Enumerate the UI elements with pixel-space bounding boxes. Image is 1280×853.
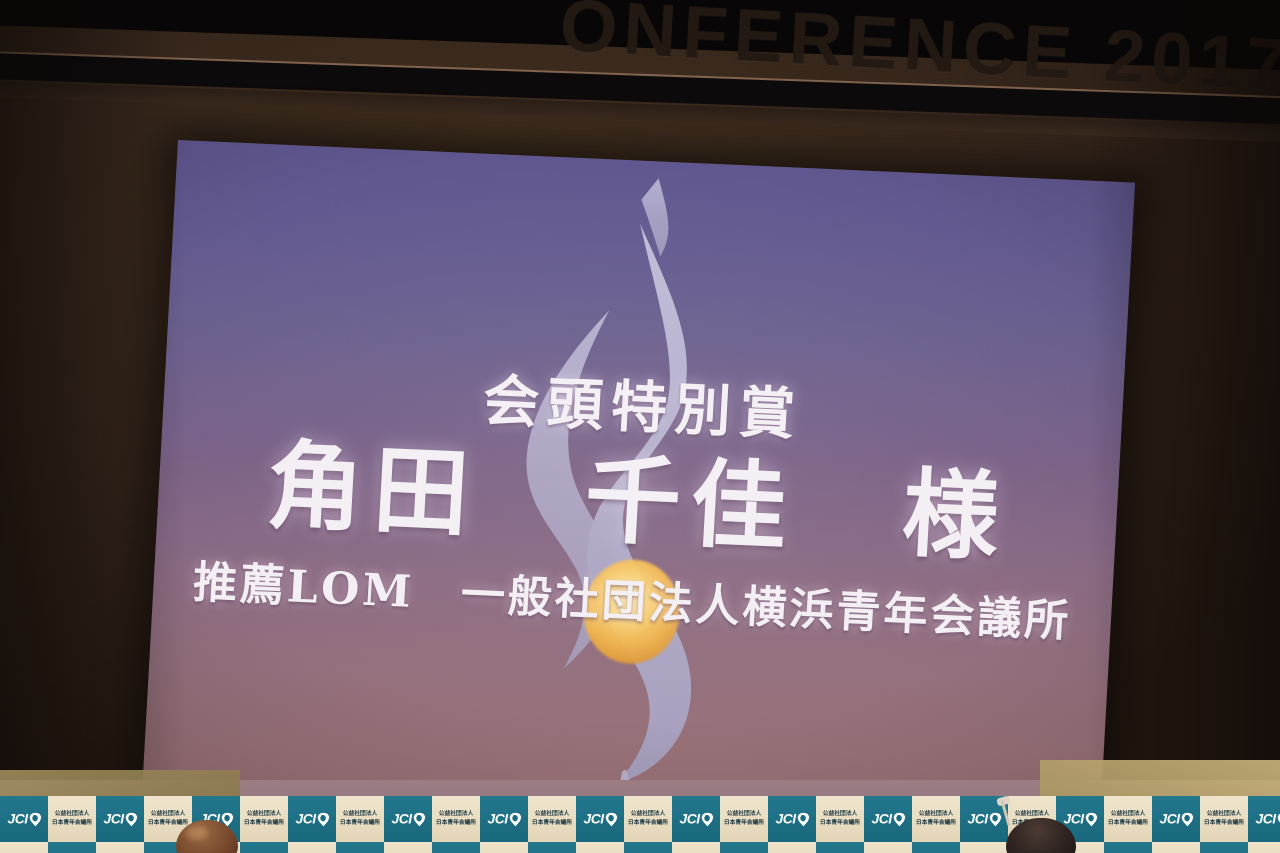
jci-org-tile: 公益社団法人日本青年会議所 (1200, 796, 1248, 842)
jci-pin-icon (701, 812, 713, 826)
jci-org-line-2: 日本青年会議所 (1108, 819, 1148, 827)
jci-pin-icon (1085, 812, 1097, 826)
jci-banner-tile (240, 842, 288, 853)
jci-pin-icon (989, 812, 1001, 826)
jci-logo: JCI (1159, 812, 1193, 826)
jci-org-tile: 公益社団法人日本青年会議所 (240, 796, 288, 842)
jci-logo-tile: JCI (576, 796, 624, 842)
jci-logo: JCI (1063, 812, 1097, 826)
jci-wordmark: JCI (391, 812, 411, 826)
jci-banner-tile (480, 842, 528, 853)
jci-org-name: 公益社団法人日本青年会議所 (628, 811, 668, 828)
jci-logo: JCI (679, 812, 713, 826)
jci-pin-icon (125, 812, 137, 826)
jci-pin-icon (509, 812, 521, 826)
jci-logo: JCI (391, 812, 425, 826)
jci-org-name: 公益社団法人日本青年会議所 (244, 811, 284, 828)
jci-wordmark: JCI (7, 812, 27, 826)
jci-org-tile: 公益社団法人日本青年会議所 (816, 796, 864, 842)
jci-org-line-1: 公益社団法人 (244, 811, 284, 819)
jci-banner-tile (384, 842, 432, 853)
award-title: 会頭特別賞 (481, 372, 804, 445)
jci-org-line-1: 公益社団法人 (820, 811, 860, 819)
jci-org-tile: 公益社団法人日本青年会議所 (1104, 796, 1152, 842)
jci-org-line-2: 日本青年会議所 (436, 819, 476, 827)
jci-logo-tile: JCI (96, 796, 144, 842)
jci-org-name: 公益社団法人日本青年会議所 (1204, 811, 1244, 828)
jci-wordmark: JCI (583, 812, 603, 826)
photo-scene: ONFERENCE 2017 (0, 0, 1280, 853)
jci-wordmark: JCI (775, 812, 795, 826)
jci-org-line-2: 日本青年会議所 (148, 819, 188, 827)
jci-wordmark: JCI (1063, 812, 1083, 826)
jci-org-line-1: 公益社団法人 (916, 811, 956, 819)
jci-pin-icon (317, 812, 329, 826)
jci-org-tile: 公益社団法人日本青年会議所 (432, 796, 480, 842)
jci-banner-tile (96, 842, 144, 853)
jci-org-line-1: 公益社団法人 (436, 811, 476, 819)
person-hair-highlight (186, 826, 208, 840)
jci-org-tile: 公益社団法人日本青年会議所 (912, 796, 960, 842)
jci-org-line-1: 公益社団法人 (532, 811, 572, 819)
jci-banner-tile (1104, 842, 1152, 853)
jci-banner-tile (1248, 842, 1280, 853)
jci-banner-tile (336, 842, 384, 853)
jci-banner-tile (864, 842, 912, 853)
recipient-name: 角田 千佳 様 (264, 435, 1011, 569)
jci-banner-tile (1200, 842, 1248, 853)
jci-org-line-2: 日本青年会議所 (916, 819, 956, 827)
jci-banner-tile (288, 842, 336, 853)
jci-logo-tile: JCI (672, 796, 720, 842)
jci-wordmark: JCI (1255, 812, 1275, 826)
jci-org-line-1: 公益社団法人 (1108, 811, 1148, 819)
jci-org-line-2: 日本青年会議所 (52, 819, 92, 827)
jci-org-tile: 公益社団法人日本青年会議所 (624, 796, 672, 842)
jci-wordmark: JCI (967, 812, 987, 826)
jci-banner-tile (1152, 842, 1200, 853)
jci-banner-tile (432, 842, 480, 853)
jci-logo-tile: JCI (0, 796, 48, 842)
jci-banner-tile (720, 842, 768, 853)
jci-org-tile: 公益社団法人日本青年会議所 (720, 796, 768, 842)
jci-logo-tile: JCI (1152, 796, 1200, 842)
jci-wordmark: JCI (103, 812, 123, 826)
jci-wordmark: JCI (871, 812, 891, 826)
jci-pin-icon (797, 812, 809, 826)
jci-org-name: 公益社団法人日本青年会議所 (532, 811, 572, 828)
jci-wordmark: JCI (679, 812, 699, 826)
jci-banner-tile (576, 842, 624, 853)
jci-logo-tile: JCI (1248, 796, 1280, 842)
jci-banner-tile (528, 842, 576, 853)
jci-banner-tile (768, 842, 816, 853)
jci-logo: JCI (967, 812, 1001, 826)
jci-logo: JCI (487, 812, 521, 826)
jci-logo-tile: JCI (768, 796, 816, 842)
jci-pin-icon (29, 812, 41, 826)
jci-pin-icon (1181, 812, 1193, 826)
jci-logo-tile: JCI (480, 796, 528, 842)
jci-org-name: 公益社団法人日本青年会議所 (1108, 811, 1148, 828)
jci-org-line-2: 日本青年会議所 (532, 819, 572, 827)
jci-banner-tile (672, 842, 720, 853)
jci-banner-tile (960, 842, 1008, 853)
jci-org-name: 公益社団法人日本青年会議所 (724, 811, 764, 828)
jci-logo: JCI (1255, 812, 1280, 826)
jci-org-name: 公益社団法人日本青年会議所 (820, 811, 860, 828)
jci-logo-tile: JCI (288, 796, 336, 842)
jci-logo-tile: JCI (384, 796, 432, 842)
jci-org-tile: 公益社団法人日本青年会議所 (48, 796, 96, 842)
jci-banner-tile (624, 842, 672, 853)
jci-org-line-1: 公益社団法人 (724, 811, 764, 819)
jci-org-line-2: 日本青年会議所 (340, 819, 380, 827)
jci-logo: JCI (103, 812, 137, 826)
jci-banner-tile (48, 842, 96, 853)
jci-banner-tile (912, 842, 960, 853)
jci-pin-icon (893, 812, 905, 826)
jci-banner-tile (816, 842, 864, 853)
jci-banner-tile (0, 842, 48, 853)
jci-org-line-2: 日本青年会議所 (724, 819, 764, 827)
jci-pin-icon (605, 812, 617, 826)
jci-org-tile: 公益社団法人日本青年会議所 (336, 796, 384, 842)
jci-org-name: 公益社団法人日本青年会議所 (436, 811, 476, 828)
projection-screen: 会頭特別賞 角田 千佳 様 推薦LOM 一般社団法人横浜青年会議所 (142, 140, 1135, 840)
jci-org-line-1: 公益社団法人 (340, 811, 380, 819)
jci-org-name: 公益社団法人日本青年会議所 (340, 811, 380, 828)
jci-org-name: 公益社団法人日本青年会議所 (148, 811, 188, 828)
jci-wordmark: JCI (295, 812, 315, 826)
jci-pin-icon (413, 812, 425, 826)
jci-org-line-2: 日本青年会議所 (244, 819, 284, 827)
jci-logo: JCI (775, 812, 809, 826)
recommending-lom-line: 推薦LOM 一般社団法人横浜青年会議所 (192, 559, 1073, 646)
jci-org-line-1: 公益社団法人 (628, 811, 668, 819)
jci-logo: JCI (871, 812, 905, 826)
jci-wordmark: JCI (487, 812, 507, 826)
jci-org-tile: 公益社団法人日本青年会議所 (528, 796, 576, 842)
jci-org-name: 公益社団法人日本青年会議所 (52, 811, 92, 828)
jci-org-line-1: 公益社団法人 (1204, 811, 1244, 819)
jci-org-line-2: 日本青年会議所 (628, 819, 668, 827)
jci-logo: JCI (583, 812, 617, 826)
jci-wordmark: JCI (1159, 812, 1179, 826)
jci-logo: JCI (295, 812, 329, 826)
jci-org-name: 公益社団法人日本青年会議所 (916, 811, 956, 828)
jci-org-line-1: 公益社団法人 (52, 811, 92, 819)
jci-logo-tile: JCI (864, 796, 912, 842)
jci-org-line-1: 公益社団法人 (148, 811, 188, 819)
jci-org-line-2: 日本青年会議所 (820, 819, 860, 827)
jci-org-line-2: 日本青年会議所 (1204, 819, 1244, 827)
jci-logo: JCI (7, 812, 41, 826)
projected-slide: 会頭特別賞 角田 千佳 様 推薦LOM 一般社団法人横浜青年会議所 (142, 140, 1135, 840)
slide-text-block: 会頭特別賞 角田 千佳 様 推薦LOM 一般社団法人横浜青年会議所 (142, 140, 1135, 840)
